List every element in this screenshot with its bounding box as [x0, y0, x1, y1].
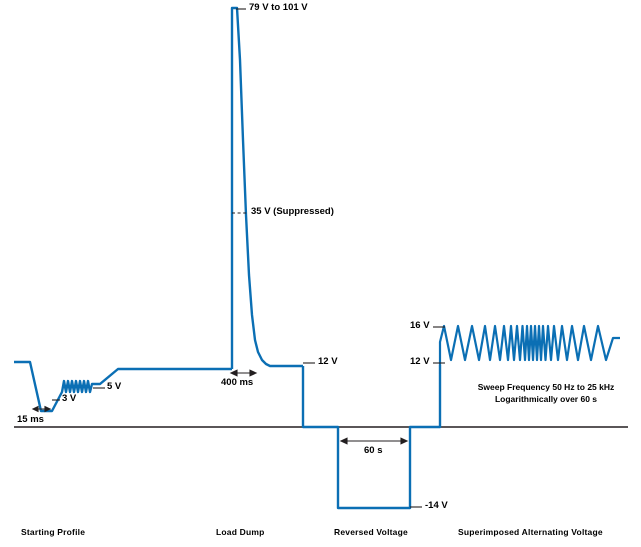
category-load-dump: Load Dump [216, 527, 265, 537]
annotation-suppressed: 35 V (Suppressed) [251, 206, 334, 217]
arrow-400ms [231, 370, 256, 376]
waveform-svg [0, 0, 641, 547]
annotation-16v: 16 V [410, 320, 430, 331]
reversed-voltage-waveform [303, 365, 440, 508]
annotation-sweep-line2: Logarithmically over 60 s [466, 393, 626, 405]
annotation-400ms: 400 ms [221, 377, 253, 388]
arrow-60s [341, 438, 407, 444]
load-dump-waveform [232, 8, 303, 369]
category-starting-profile: Starting Profile [21, 527, 85, 537]
diagram-canvas: 79 V to 101 V 35 V (Suppressed) 12 V 400… [0, 0, 641, 547]
annotation-3v: 3 V [62, 393, 76, 404]
annotation-neg14v: -14 V [425, 500, 448, 511]
starting-profile-waveform [14, 362, 232, 411]
annotation-peak: 79 V to 101 V [249, 2, 308, 13]
annotation-12v: 12 V [318, 356, 338, 367]
annotation-15ms: 15 ms [17, 414, 44, 425]
category-superimposed-alternating-voltage: Superimposed Alternating Voltage [458, 527, 603, 537]
annotation-5v: 5 V [107, 381, 121, 392]
annotation-sweep-line1: Sweep Frequency 50 Hz to 25 kHz [466, 381, 626, 393]
category-reversed-voltage: Reversed Voltage [334, 527, 408, 537]
annotation-60s: 60 s [364, 445, 383, 456]
superimposed-ac-waveform [440, 326, 620, 365]
annotation-12v-ac: 12 V [410, 356, 430, 367]
